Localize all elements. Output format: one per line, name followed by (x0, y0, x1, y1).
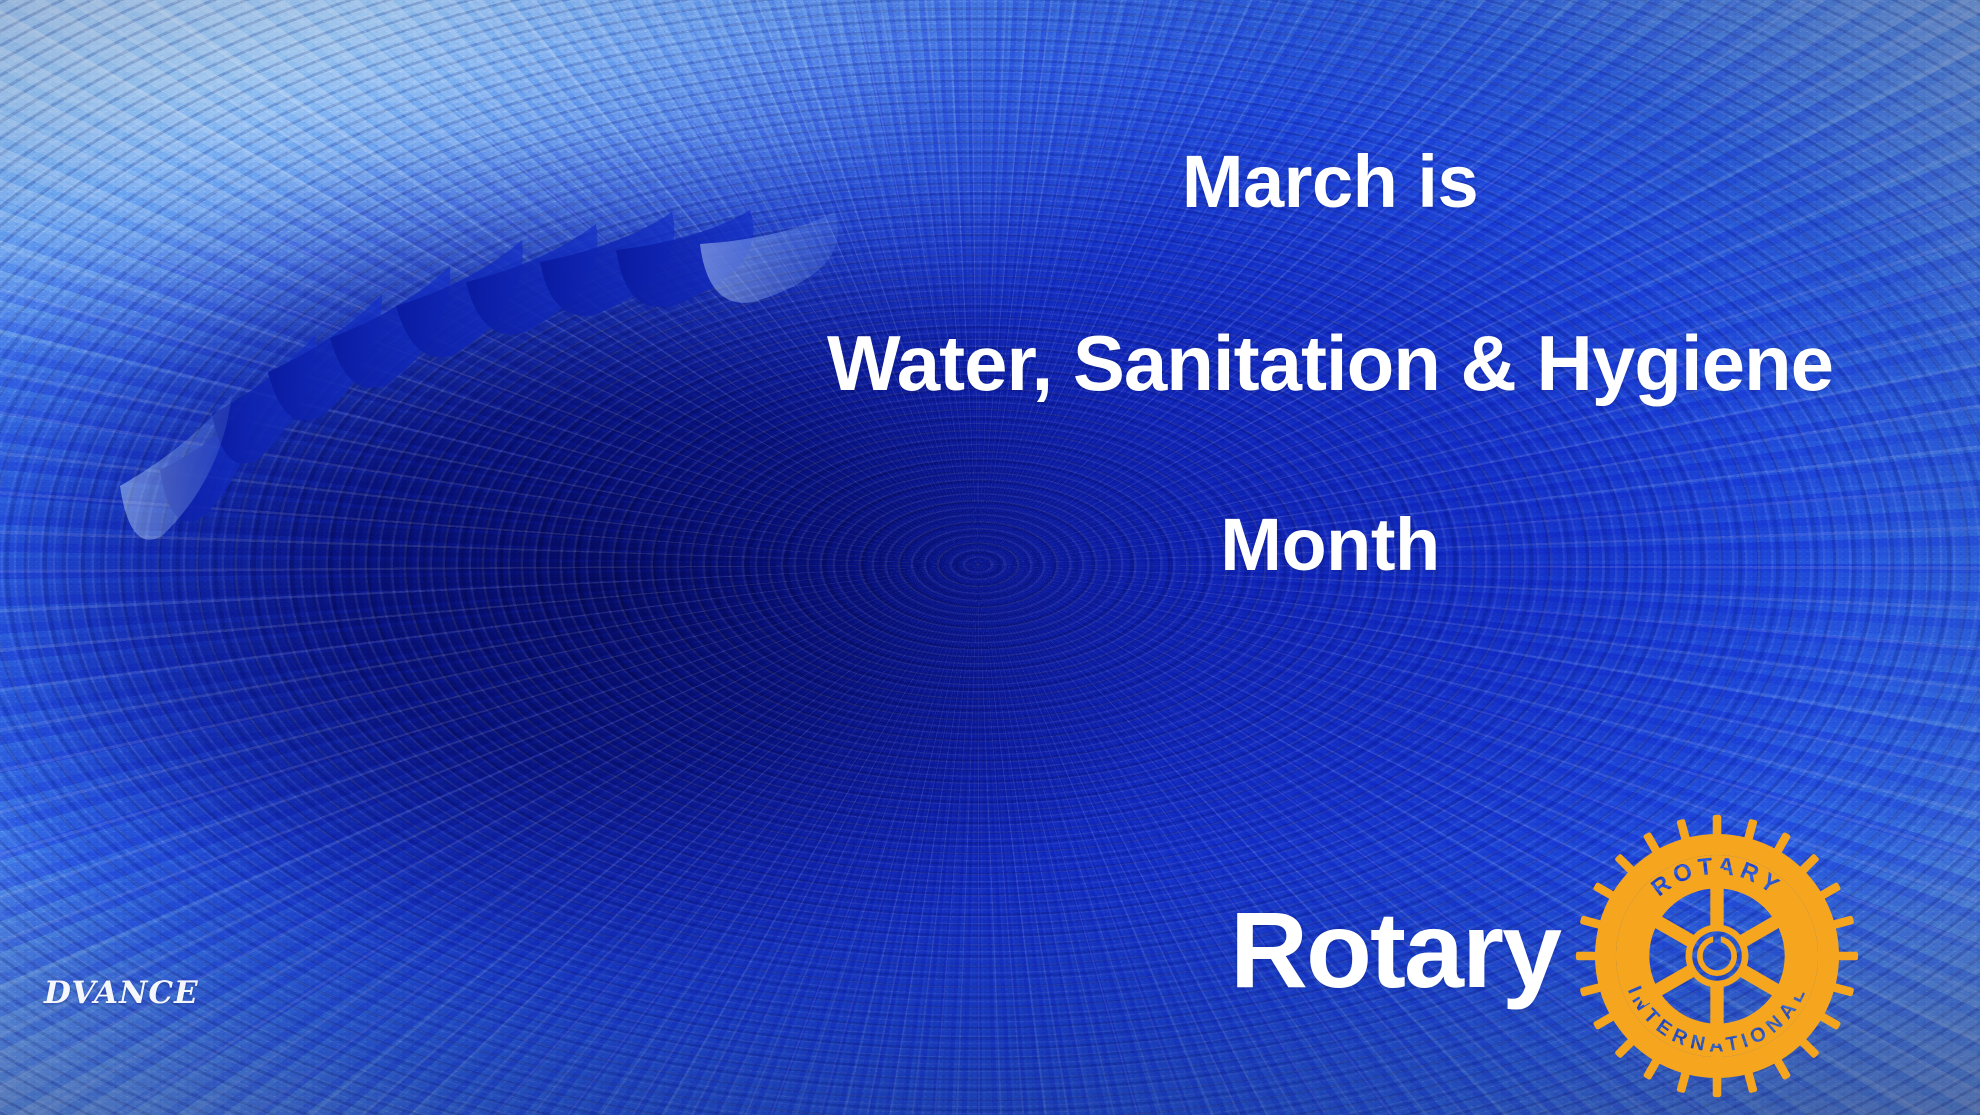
headline-block: March is Water, Sanitation & Hygiene Mon… (700, 46, 1960, 681)
headline-line-1: March is (700, 138, 1960, 225)
rotary-wordmark: Rotary (1230, 896, 1560, 1004)
rotary-wheel-icon: ROTARY INTERNATIONAL (1574, 813, 1860, 1099)
rotary-brand-lockup: Rotary (1230, 800, 1950, 1100)
poster-canvas: March is Water, Sanitation & Hygiene Mon… (0, 0, 1980, 1115)
headline-line-2: Water, Sanitation & Hygiene (700, 317, 1960, 409)
headline-line-3: Month (700, 501, 1960, 588)
watermark-text: DVANCE (44, 975, 199, 1011)
